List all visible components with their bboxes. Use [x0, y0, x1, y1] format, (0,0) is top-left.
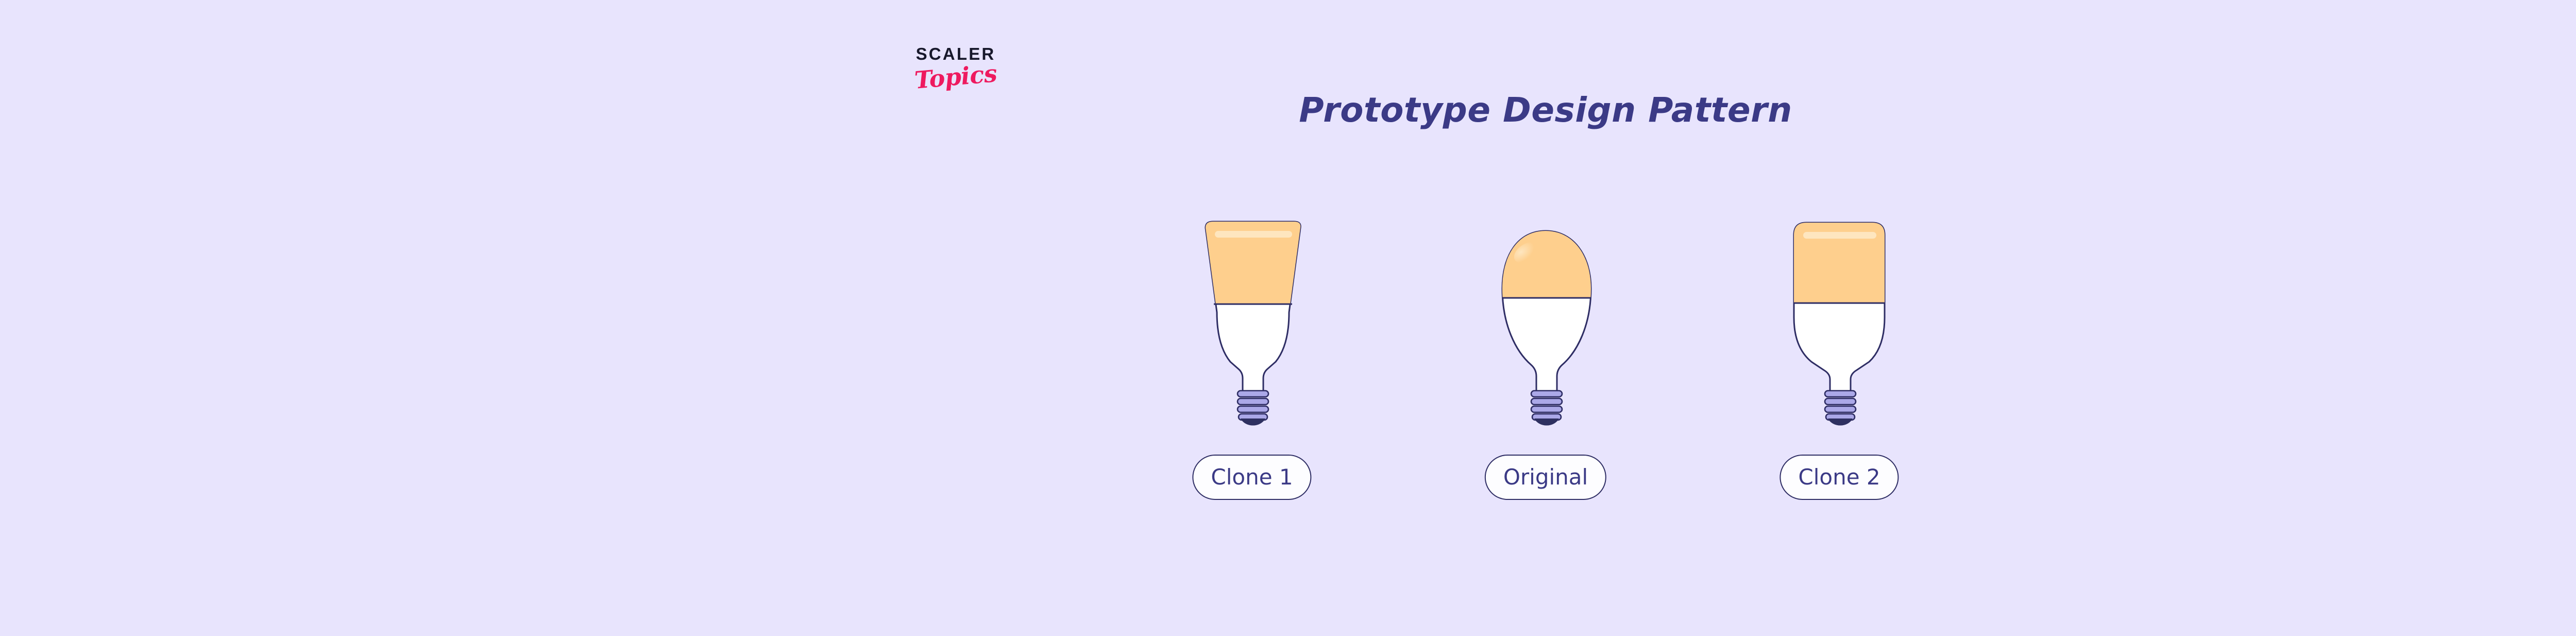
bulb-screw-base [1825, 391, 1856, 426]
bulb-base-tip [1241, 419, 1265, 426]
bulb-label-text: Clone 2 [1798, 466, 1880, 488]
bulb-glass-top-fill [1494, 216, 1602, 298]
lightbulb-icon-original [1468, 216, 1623, 433]
lightbulb-icon-clone-2 [1762, 216, 1917, 433]
logo-wordmark-topics: Topics [890, 59, 1021, 95]
logo-wordmark-scaler: SCALER [891, 45, 1020, 62]
bulb-label-clone-2[interactable]: Clone 2 [1780, 455, 1899, 500]
bulb-screw-base [1531, 391, 1562, 426]
bulb-row: Clone 1 [1123, 216, 1968, 536]
page-title: Prototype Design Pattern [0, 90, 2576, 130]
illustration-canvas: SCALER Topics Prototype Design Pattern [0, 0, 2576, 636]
bulb-label-text: Original [1503, 466, 1588, 488]
bulb-label-text: Clone 1 [1211, 466, 1293, 488]
bulb-glass-top-fill [1785, 216, 1896, 303]
bulb-screw-base [1238, 391, 1268, 426]
bulb-label-clone-1[interactable]: Clone 1 [1192, 455, 1311, 500]
bulb-base-tip [1534, 419, 1559, 426]
bulb-glass-top-fill [1195, 216, 1314, 304]
bulb-highlight-bar [1215, 231, 1292, 238]
bulb-item-clone-1: Clone 1 [1144, 216, 1360, 536]
lightbulb-icon-clone-1 [1175, 216, 1329, 433]
bulb-label-original[interactable]: Original [1485, 455, 1606, 500]
bulb-highlight-bar [1803, 232, 1876, 239]
bulb-item-clone-2: Clone 2 [1731, 216, 1947, 536]
bulb-item-original: Original [1437, 216, 1654, 536]
bulb-base-tip [1828, 419, 1853, 426]
